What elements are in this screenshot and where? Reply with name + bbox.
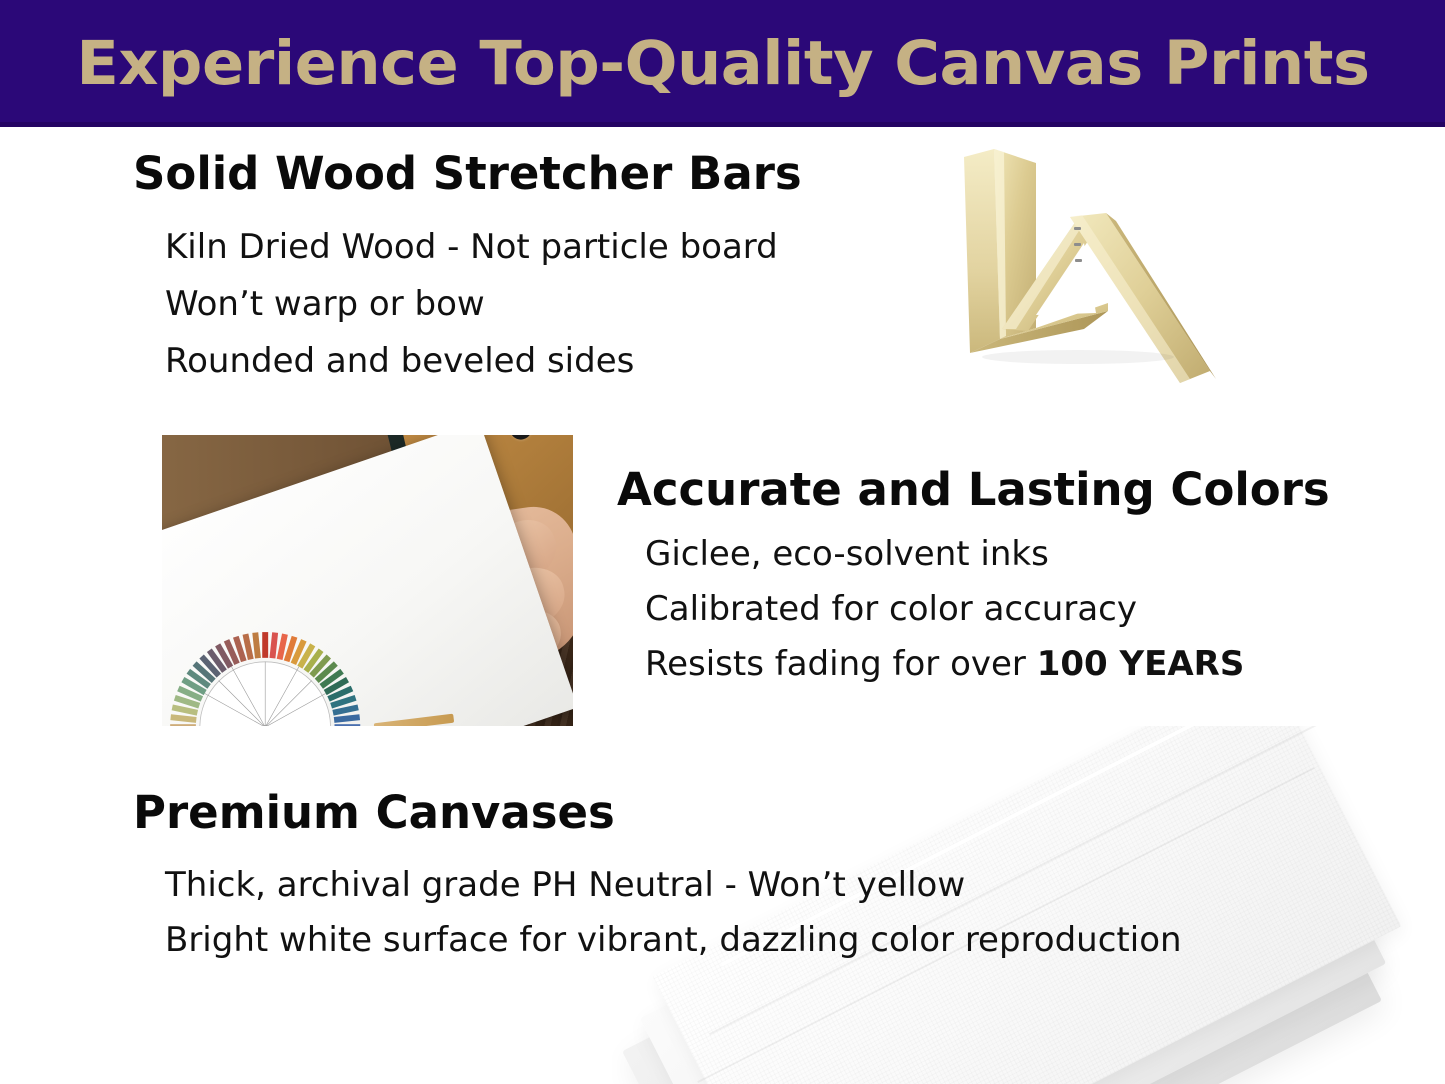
list-item: Giclee, eco-solvent inks bbox=[645, 527, 1330, 582]
list-item: Kiln Dried Wood - Not particle board bbox=[165, 219, 802, 276]
page-title: Experience Top-Quality Canvas Prints bbox=[76, 33, 1369, 94]
section-wood-bullet-list: Kiln Dried Wood - Not particle board Won… bbox=[165, 219, 802, 390]
list-item-with-emphasis: Resists fading for over 100 YEARS bbox=[645, 637, 1330, 692]
header-banner: Experience Top-Quality Canvas Prints bbox=[0, 0, 1445, 127]
section-premium-canvases: Premium Canvases Thick, archival grade P… bbox=[133, 789, 1182, 968]
section-canvas-bullet-list: Thick, archival grade PH Neutral - Won’t… bbox=[165, 858, 1182, 968]
section-heading-wood: Solid Wood Stretcher Bars bbox=[133, 150, 802, 197]
list-item: Calibrated for color accuracy bbox=[645, 582, 1330, 637]
color-wheel-photo bbox=[162, 435, 573, 726]
list-item: Thick, archival grade PH Neutral - Won’t… bbox=[165, 858, 1182, 913]
years-emphasis: 100 YEARS bbox=[1037, 644, 1245, 684]
sleeve-button-icon bbox=[507, 435, 533, 442]
pencil bbox=[373, 714, 454, 726]
section-heading-colors: Accurate and Lasting Colors bbox=[617, 466, 1330, 513]
stretcher-bars-image bbox=[958, 143, 1224, 401]
list-item: Rounded and beveled sides bbox=[165, 333, 802, 390]
section-accurate-lasting-colors: Accurate and Lasting Colors Giclee, eco-… bbox=[617, 466, 1330, 692]
color-wheel-chart bbox=[166, 628, 364, 726]
color-wheel-photo-content bbox=[162, 435, 573, 726]
list-item-prefix: Resists fading for over bbox=[645, 644, 1037, 684]
section-colors-bullet-list: Giclee, eco-solvent inks Calibrated for … bbox=[645, 527, 1330, 692]
list-item: Bright white surface for vibrant, dazzli… bbox=[165, 913, 1182, 968]
list-item: Won’t warp or bow bbox=[165, 276, 802, 333]
section-heading-canvases: Premium Canvases bbox=[133, 789, 1182, 836]
section-solid-wood-stretcher-bars: Solid Wood Stretcher Bars Kiln Dried Woo… bbox=[133, 150, 802, 390]
